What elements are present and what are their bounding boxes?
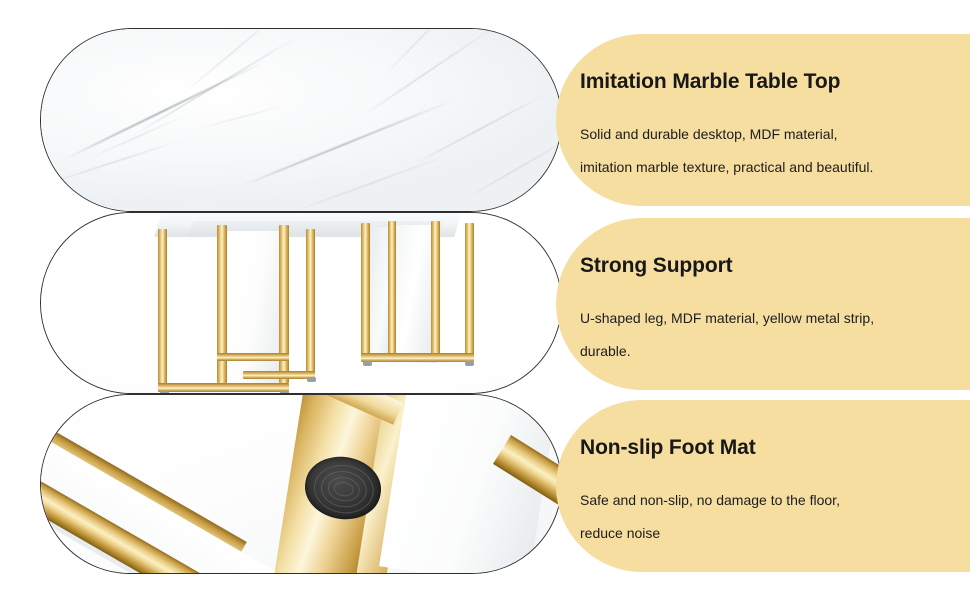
feature-description: Solid and durable desktop, MDF material,… [580, 118, 960, 184]
leg-gold-strip [361, 223, 370, 361]
feature-row-strong-support: Strong Support U-shaped leg, MDF materia… [0, 212, 970, 394]
feature-description-line: imitation marble texture, practical and … [580, 151, 960, 184]
feature-text-panel-marble: Imitation Marble Table Top Solid and dur… [556, 34, 970, 206]
feature-description-line: Safe and non-slip, no damage to the floo… [580, 484, 960, 517]
feature-description-line: U-shaped leg, MDF material, yellow metal… [580, 302, 960, 335]
leg-gold-strip [431, 221, 440, 357]
leg-gold-strip [158, 229, 167, 392]
feature-text-panel-foot-mat: Non-slip Foot Mat Safe and non-slip, no … [556, 400, 970, 572]
legs-photo-background [41, 213, 561, 393]
feature-title: Imitation Marble Table Top [580, 70, 840, 94]
feature-image-card-legs [40, 212, 562, 394]
marble-surface [41, 29, 561, 211]
leg-foot-nub [465, 361, 474, 366]
feature-row-non-slip-foot-mat: Non-slip Foot Mat Safe and non-slip, no … [0, 394, 970, 574]
leg-gold-strip [388, 221, 396, 357]
leg-foot-nub [307, 377, 316, 382]
leg-base-rail [217, 353, 289, 361]
leg-foot-nub [363, 361, 372, 366]
leg-foot-nub [280, 391, 289, 393]
marble-table-top-photo [41, 29, 561, 211]
leg-base-rail [243, 371, 315, 379]
leg-gold-strip [465, 223, 474, 361]
feature-description: U-shaped leg, MDF material, yellow metal… [580, 302, 960, 368]
feature-row-marble-table-top: Imitation Marble Table Top Solid and dur… [0, 28, 970, 212]
leg-base-rail [361, 353, 474, 362]
feature-description-line: reduce noise [580, 517, 960, 550]
feature-title: Strong Support [580, 254, 733, 278]
feature-description-line: durable. [580, 335, 960, 368]
feature-title: Non-slip Foot Mat [580, 436, 756, 460]
feature-description: Safe and non-slip, no damage to the floo… [580, 484, 960, 550]
feature-image-card-marble [40, 28, 562, 212]
leg-foot-nub [160, 391, 169, 393]
u-shaped-gold-legs-photo [41, 213, 561, 393]
feature-description-line: Solid and durable desktop, MDF material, [580, 118, 960, 151]
feature-image-card-foot-pad [40, 394, 562, 574]
leg-base-rail [158, 383, 289, 392]
feature-text-panel-strong-support: Strong Support U-shaped leg, MDF materia… [556, 218, 970, 390]
feature-infographic: Imitation Marble Table Top Solid and dur… [0, 0, 970, 600]
leg-gold-strip [306, 229, 315, 379]
non-slip-foot-pad-photo [41, 395, 561, 573]
